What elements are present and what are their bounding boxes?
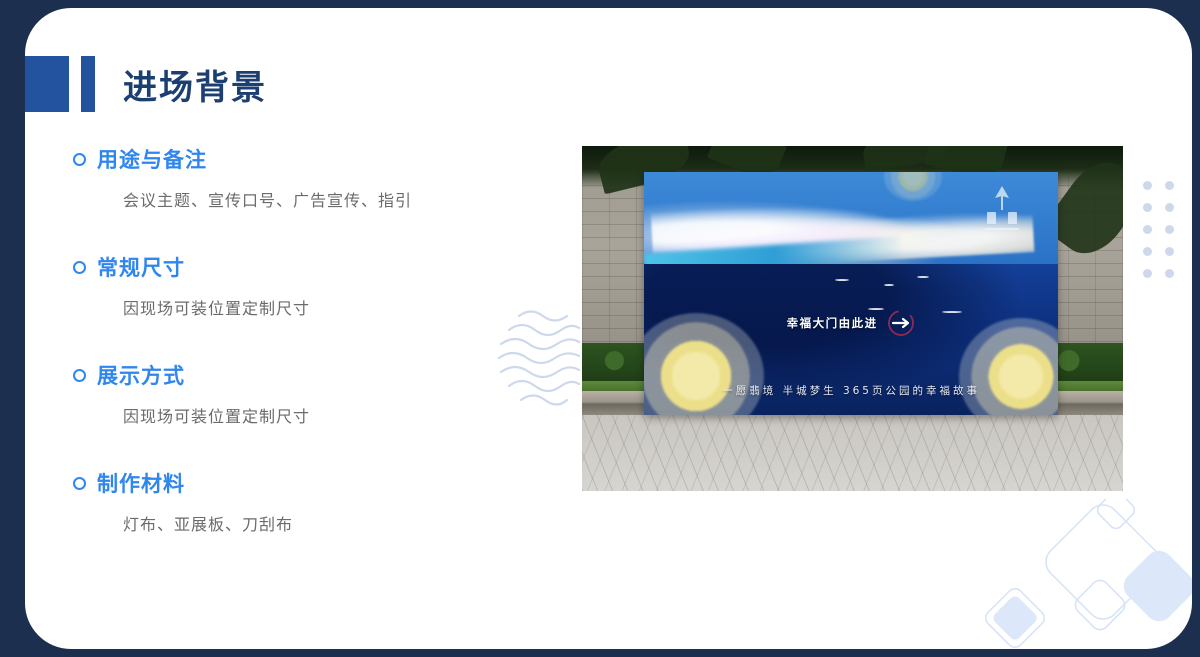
billboard-headline-row: 幸福大门由此进 [644, 308, 1058, 338]
bullet-description: 会议主题、宣传口号、广告宣传、指引 [123, 187, 503, 211]
dot [1165, 181, 1174, 190]
ring-marker-icon [73, 153, 86, 166]
bullet-head: 常规尺寸 [73, 252, 503, 282]
bullet-head: 制作材料 [73, 468, 503, 498]
bullet-description: 因现场可装位置定制尺寸 [123, 403, 503, 427]
bullet-item-material[interactable]: 制作材料 灯布、亚展板、刀刮布 [73, 468, 503, 535]
dot [1143, 225, 1152, 234]
bullet-title: 展示方式 [97, 360, 185, 390]
dot [1143, 203, 1152, 212]
billboard-panel: 幸福大门由此进 一愿翡境 半城梦生 365页公园的幸福故事 [644, 172, 1058, 415]
dot [1143, 181, 1152, 190]
ring-marker-icon [73, 369, 86, 382]
outdoor-billboard-photo: 幸福大门由此进 一愿翡境 半城梦生 365页公园的幸福故事 [582, 146, 1123, 491]
bullet-item-display[interactable]: 展示方式 因现场可装位置定制尺寸 [73, 360, 503, 427]
painted-boat [835, 279, 849, 281]
bullet-title: 用途与备注 [97, 144, 207, 174]
slide-root: 进场背景 用途与备注 会议主题、宣传口号、广告宣传、指引 常规尺寸 因现场可装位… [0, 0, 1200, 657]
bullet-list: 用途与备注 会议主题、宣传口号、广告宣传、指引 常规尺寸 因现场可装位置定制尺寸… [73, 144, 503, 576]
dot [1143, 269, 1152, 278]
bullet-item-size[interactable]: 常规尺寸 因现场可装位置定制尺寸 [73, 252, 503, 319]
bullet-title: 常规尺寸 [97, 252, 185, 282]
slide-content-panel: 进场背景 用途与备注 会议主题、宣传口号、广告宣传、指引 常规尺寸 因现场可装位… [25, 8, 1192, 649]
bullet-title: 制作材料 [97, 468, 185, 498]
page-title: 进场背景 [123, 60, 267, 109]
paved-ground [582, 415, 1123, 491]
ring-marker-icon [73, 477, 86, 490]
title-accent-block-thin [81, 56, 95, 112]
dot [1165, 247, 1174, 256]
estate-logo-mark [979, 184, 1025, 242]
rotated-rounded-squares-decoration [962, 499, 1192, 649]
dot [1165, 203, 1174, 212]
title-accent-block-wide [25, 56, 69, 112]
bullet-description: 灯布、亚展板、刀刮布 [123, 511, 503, 535]
page-title-row: 进场背景 [25, 52, 267, 116]
dot [1165, 269, 1174, 278]
bullet-head: 用途与备注 [73, 144, 503, 174]
circled-right-arrow-icon [886, 308, 916, 338]
bullet-head: 展示方式 [73, 360, 503, 390]
ring-marker-icon [73, 261, 86, 274]
frame-left-bar [0, 0, 25, 657]
bullet-item-purpose[interactable]: 用途与备注 会议主题、宣传口号、广告宣传、指引 [73, 144, 503, 211]
billboard-tagline: 一愿翡境 半城梦生 365页公园的幸福故事 [644, 383, 1058, 398]
painted-boat [884, 284, 894, 286]
dot [1165, 225, 1174, 234]
billboard-headline: 幸福大门由此进 [787, 315, 878, 331]
bullet-description: 因现场可装位置定制尺寸 [123, 295, 503, 319]
dot-grid-decoration [1143, 181, 1187, 291]
dot [1143, 247, 1152, 256]
